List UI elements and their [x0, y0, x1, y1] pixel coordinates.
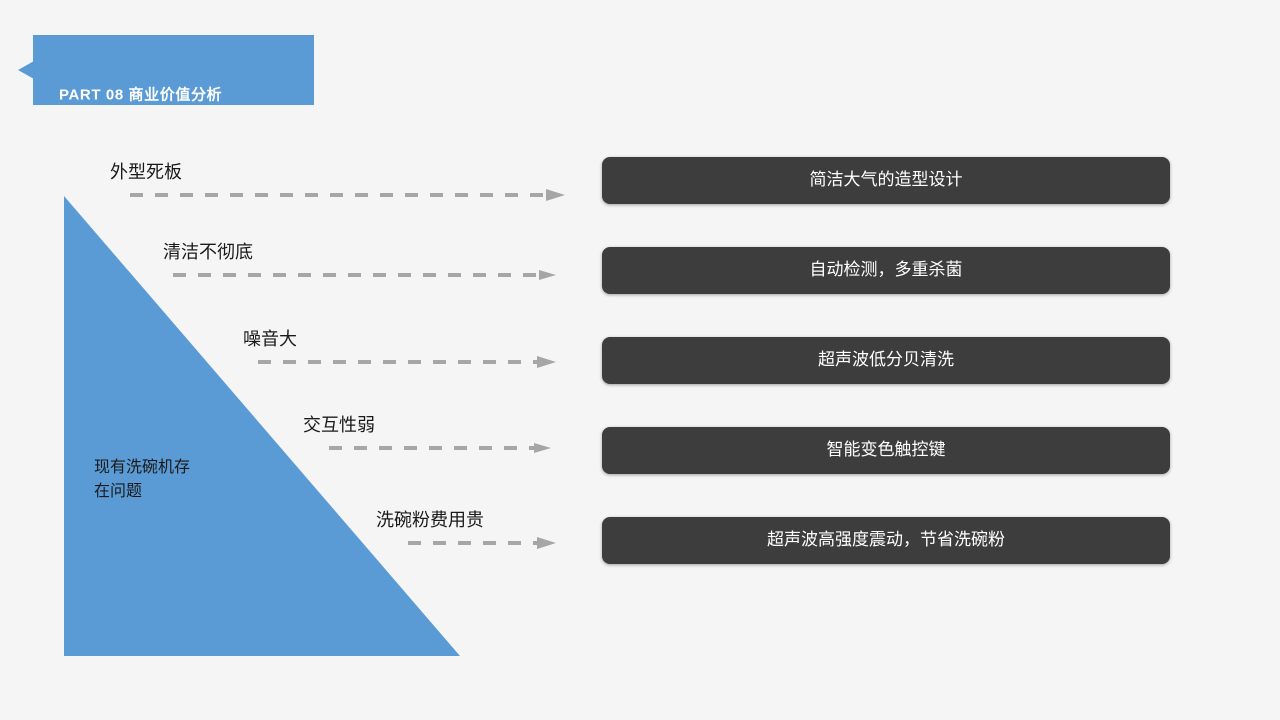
feature-pill-label: 自动检测，多重杀菌 [810, 262, 963, 279]
problem-label: 交互性弱 [303, 413, 375, 439]
feature-pill[interactable]: 简洁大气的造型设计 [602, 157, 1170, 204]
funnel-caption-line-2: 在问题 [94, 479, 264, 503]
section-title-banner: PART 08 商业价值分析 [18, 35, 314, 105]
problem-label: 洗碗粉费用贵 [376, 508, 484, 534]
feature-pill[interactable]: 超声波高强度震动，节省洗碗粉 [602, 517, 1170, 564]
feature-pill-label: 超声波低分贝清洗 [818, 352, 954, 369]
dashed-arrow-right-icon [408, 537, 556, 549]
banner-tail-icon [18, 61, 34, 79]
problem-label: 噪音大 [243, 327, 297, 353]
feature-pill-label: 简洁大气的造型设计 [810, 172, 963, 189]
dashed-arrow-right-icon [329, 442, 551, 454]
feature-pill-label: 超声波高强度震动，节省洗碗粉 [767, 532, 1005, 549]
slide-canvas: PART 08 商业价值分析 现有洗碗机存 在问题 外型死板 清洁不彻底 [0, 0, 1280, 720]
dashed-arrow-right-icon [173, 269, 556, 281]
page-title: PART 08 商业价值分析 [59, 84, 222, 105]
dashed-arrow-right-icon [130, 189, 565, 201]
funnel-caption-line-1: 现有洗碗机存 [94, 455, 264, 479]
feature-pill[interactable]: 超声波低分贝清洗 [602, 337, 1170, 384]
funnel-caption: 现有洗碗机存 在问题 [94, 455, 264, 503]
feature-pill[interactable]: 自动检测，多重杀菌 [602, 247, 1170, 294]
feature-pill-label: 智能变色触控键 [827, 442, 946, 459]
problem-label: 清洁不彻底 [163, 240, 253, 266]
dashed-arrow-right-icon [258, 356, 556, 368]
feature-pill[interactable]: 智能变色触控键 [602, 427, 1170, 474]
funnel-triangle [64, 196, 460, 656]
problem-label: 外型死板 [110, 160, 182, 186]
